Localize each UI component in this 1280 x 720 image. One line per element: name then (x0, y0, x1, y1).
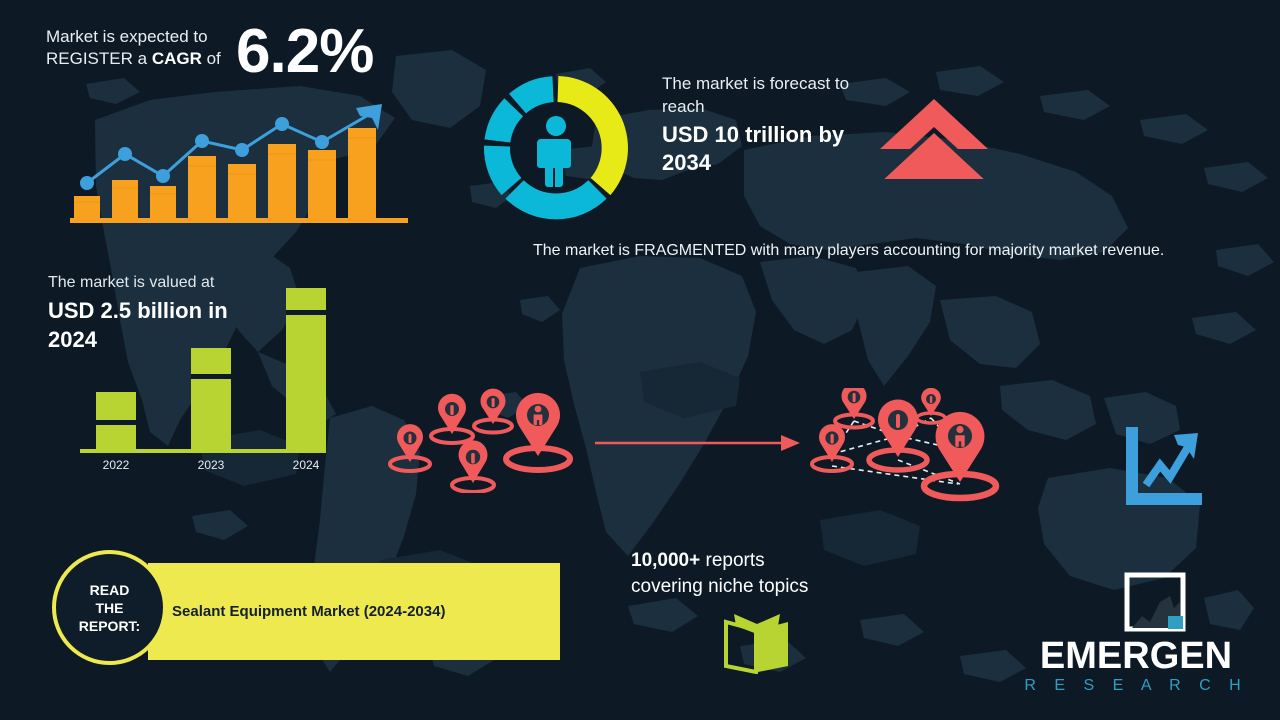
donut-slice-cyan-4 (509, 76, 554, 113)
map-pin-large (924, 412, 996, 498)
report-title: Sealant Equipment Market (2024-2034) (172, 603, 445, 620)
green-chart-tick-2024: 2024 (276, 458, 336, 472)
green-bar-2022 (96, 392, 136, 450)
green-bar-2024 (286, 288, 326, 450)
line-chart-growth-icon (1122, 425, 1204, 510)
cagr-value: 6.2% (236, 22, 373, 82)
logo-wordmark: EMERGEN (1016, 636, 1256, 676)
book-page-right (758, 622, 788, 672)
read-line3: REPORT: (79, 618, 140, 634)
emergen-research-logo[interactable]: EMERGEN R E S E A R C H (1016, 572, 1256, 707)
infographic-canvas: Market is expected toREGISTER a CAGR of6… (0, 0, 1280, 720)
square-chart-mark-icon (1124, 572, 1186, 632)
forecast-label: The market is forecast to reach (662, 72, 892, 118)
double-chevron-up-icon (878, 97, 990, 179)
map-pin (917, 388, 945, 423)
right-arrow-icon (595, 432, 800, 454)
donut-slice-cyan-3 (485, 98, 524, 142)
green-bar-stripe (96, 420, 136, 425)
map-pin-large (506, 393, 570, 470)
chart-line (1146, 447, 1188, 485)
reports-count-line: 10,000+ reports (631, 548, 891, 574)
green-chart-tick-2023: 2023 (181, 458, 241, 472)
green-chart-tick-2022: 2022 (86, 458, 146, 472)
forecast-block: The market is forecast to reach USD 10 t… (662, 72, 892, 177)
open-book-icon (722, 612, 792, 674)
green-bar-2023 (191, 348, 231, 450)
fragmented-market-text: The market is FRAGMENTED with many playe… (533, 238, 1223, 263)
logo-subtitle: R E S E A R C H (1016, 676, 1256, 696)
reports-subtitle: covering niche topics (631, 574, 891, 600)
map-pin (812, 424, 852, 471)
cagr-label-bold: CAGR (152, 49, 202, 68)
map-pin-cluster-connected-icon (808, 388, 1008, 503)
book-page-left (726, 622, 756, 672)
green-bar-stripe (191, 374, 231, 379)
map-pin-cluster-scattered-icon (388, 388, 578, 493)
reports-count: 10,000+ (631, 550, 700, 571)
reports-block: 10,000+ reports covering niche topics (631, 548, 891, 600)
green-bar-stripe (286, 310, 326, 315)
donut-slice-cyan-2 (484, 146, 521, 196)
read-the-report-button[interactable]: READTHEREPORT: (52, 550, 167, 665)
map-pin (390, 424, 430, 471)
donut-chart-with-person-icon (466, 58, 646, 238)
reports-count-suffix: reports (700, 550, 764, 571)
green-bar-chart: 2022 2023 2024 (80, 295, 340, 470)
report-banner[interactable]: Sealant Equipment Market (2024-2034) (148, 563, 560, 660)
trendline-arrow-icon (356, 104, 382, 130)
cagr-label-line2-post: of (202, 49, 221, 68)
read-the-report-label: READTHEREPORT: (79, 581, 140, 635)
map-pin (431, 394, 473, 443)
read-line2: THE (95, 600, 123, 616)
donut-slice-yellow (558, 76, 628, 195)
map-pin (474, 389, 512, 433)
orange-chart-baseline (70, 218, 408, 223)
person-icon (537, 116, 571, 187)
cagr-block: Market is expected toREGISTER a CAGR of6… (46, 22, 446, 82)
valued-label: The market is valued at (48, 272, 278, 294)
map-pin (452, 440, 494, 492)
map-pin-medium (869, 399, 927, 470)
cagr-label-line2-pre: REGISTER a (46, 49, 152, 68)
read-line1: READ (90, 582, 130, 598)
cagr-label: Market is expected toREGISTER a CAGR of (46, 22, 236, 70)
orange-bar-chart-with-trendline (70, 88, 415, 223)
orange-bars (74, 128, 376, 218)
cagr-label-line1: Market is expected to (46, 27, 208, 46)
forecast-value: USD 10 trillion by 2034 (662, 121, 892, 177)
